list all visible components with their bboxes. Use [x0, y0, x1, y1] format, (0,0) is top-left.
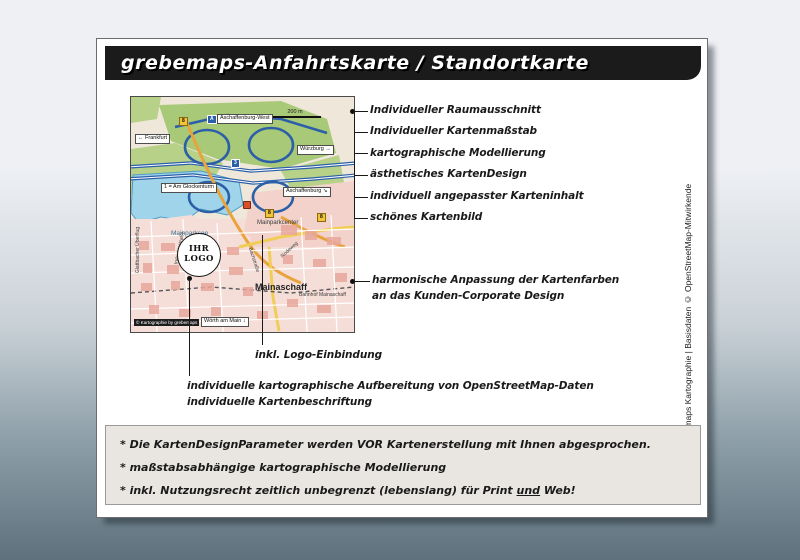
feature-item-4: ästhetisches KartenDesign — [370, 168, 527, 180]
feature-item-2: Individueller Kartenmaßstab — [370, 125, 537, 137]
footer-bullet-3: * inkl. Nutzungsrecht zeitlich unbegrenz… — [120, 484, 576, 497]
shield-b8-north: 8 — [179, 117, 188, 126]
sign-wuerzburg[interactable]: Würzburg → — [297, 145, 334, 155]
colors-annotation-line-1: harmonische Anpassung der Kartenfarben — [372, 274, 619, 286]
sign-woerth-am-main[interactable]: Wörth am Main ↓ — [201, 317, 249, 327]
footer-bullet-3-underline: und — [517, 484, 541, 497]
bottom-annotation-line-1: individuelle kartographische Aufbereitun… — [187, 380, 594, 392]
shield-b8-south: 8 — [317, 213, 326, 222]
feature-item-5: individuell angepasster Karteninhalt — [370, 190, 584, 202]
sign-aschaffenburg[interactable]: Aschaffenburg ↘ — [283, 187, 331, 197]
footer-bullet-1: * Die KartenDesignParameter werden VOR K… — [120, 438, 651, 451]
leader-line-logo — [262, 235, 263, 345]
page-title: grebemaps-Anfahrtskarte / Standortkarte — [121, 52, 589, 74]
feature-item-3: kartographische Modellierung — [370, 147, 546, 159]
leader-bracket-vertical — [354, 111, 355, 219]
footer-bullet-3-pre: * inkl. Nutzungsrecht zeitlich unbegrenz… — [120, 484, 517, 497]
map-label-street-left: Glattbacher Überflug — [135, 227, 141, 273]
vertical-copyright: © by grebemaps Kartographie | Basisdaten… — [683, 83, 701, 473]
location-map[interactable]: 200 m ← Frankfurt A Aschaffenburg-West W… — [130, 96, 355, 333]
map-label-center: Mainparkcenter — [257, 220, 298, 226]
sign-frankfurt[interactable]: ← Frankfurt — [135, 134, 170, 144]
flyer-card: grebemaps-Anfahrtskarte / Standortkarte … — [96, 38, 708, 518]
shield-a3: 3 — [231, 159, 240, 168]
leader-line-feature-2 — [354, 132, 368, 133]
map-scalebar: 200 m — [269, 109, 321, 118]
leader-line-colors — [354, 281, 370, 282]
feature-item-6: schönes Kartenbild — [370, 211, 482, 223]
shield-autobahn-west: A — [207, 115, 217, 124]
leader-line-feature-5 — [354, 197, 368, 198]
map-label-station: Bahnhof Mainaschaff — [299, 293, 346, 299]
logo-line-2: LOGO — [184, 255, 214, 265]
leader-line-feature-3 — [354, 153, 368, 154]
bottom-annotation-line-2: individuelle Kartenbeschriftung — [187, 396, 372, 408]
poi-marker[interactable] — [243, 201, 251, 209]
title-banner: grebemaps-Anfahrtskarte / Standortkarte — [105, 46, 701, 80]
shield-b8-east: 8 — [265, 209, 274, 218]
feature-item-1: Individueller Raumausschnitt — [370, 104, 541, 116]
footer-bullet-3-post: Web! — [540, 484, 576, 497]
colors-annotation-line-2: an das Kunden-Corporate Design — [372, 290, 564, 302]
footer-bullet-2: * maßstabsabhängige kartographische Mode… — [120, 461, 446, 474]
footer-panel: * Die KartenDesignParameter werden VOR K… — [105, 425, 701, 505]
logo-placeholder[interactable]: IHR LOGO — [177, 233, 221, 277]
leader-line-feature-6 — [354, 218, 368, 219]
sign-aschaffenburg-west[interactable]: Aschaffenburg-West — [217, 114, 273, 124]
scalebar-line — [269, 116, 321, 118]
sign-glockenturm: 1 = Am Glockenturm — [161, 183, 217, 193]
leader-line-feature-1 — [354, 111, 368, 112]
leader-line-feature-4 — [354, 175, 368, 176]
leader-line-bottom — [189, 279, 190, 376]
logo-annotation: inkl. Logo-Einbindung — [255, 349, 382, 361]
